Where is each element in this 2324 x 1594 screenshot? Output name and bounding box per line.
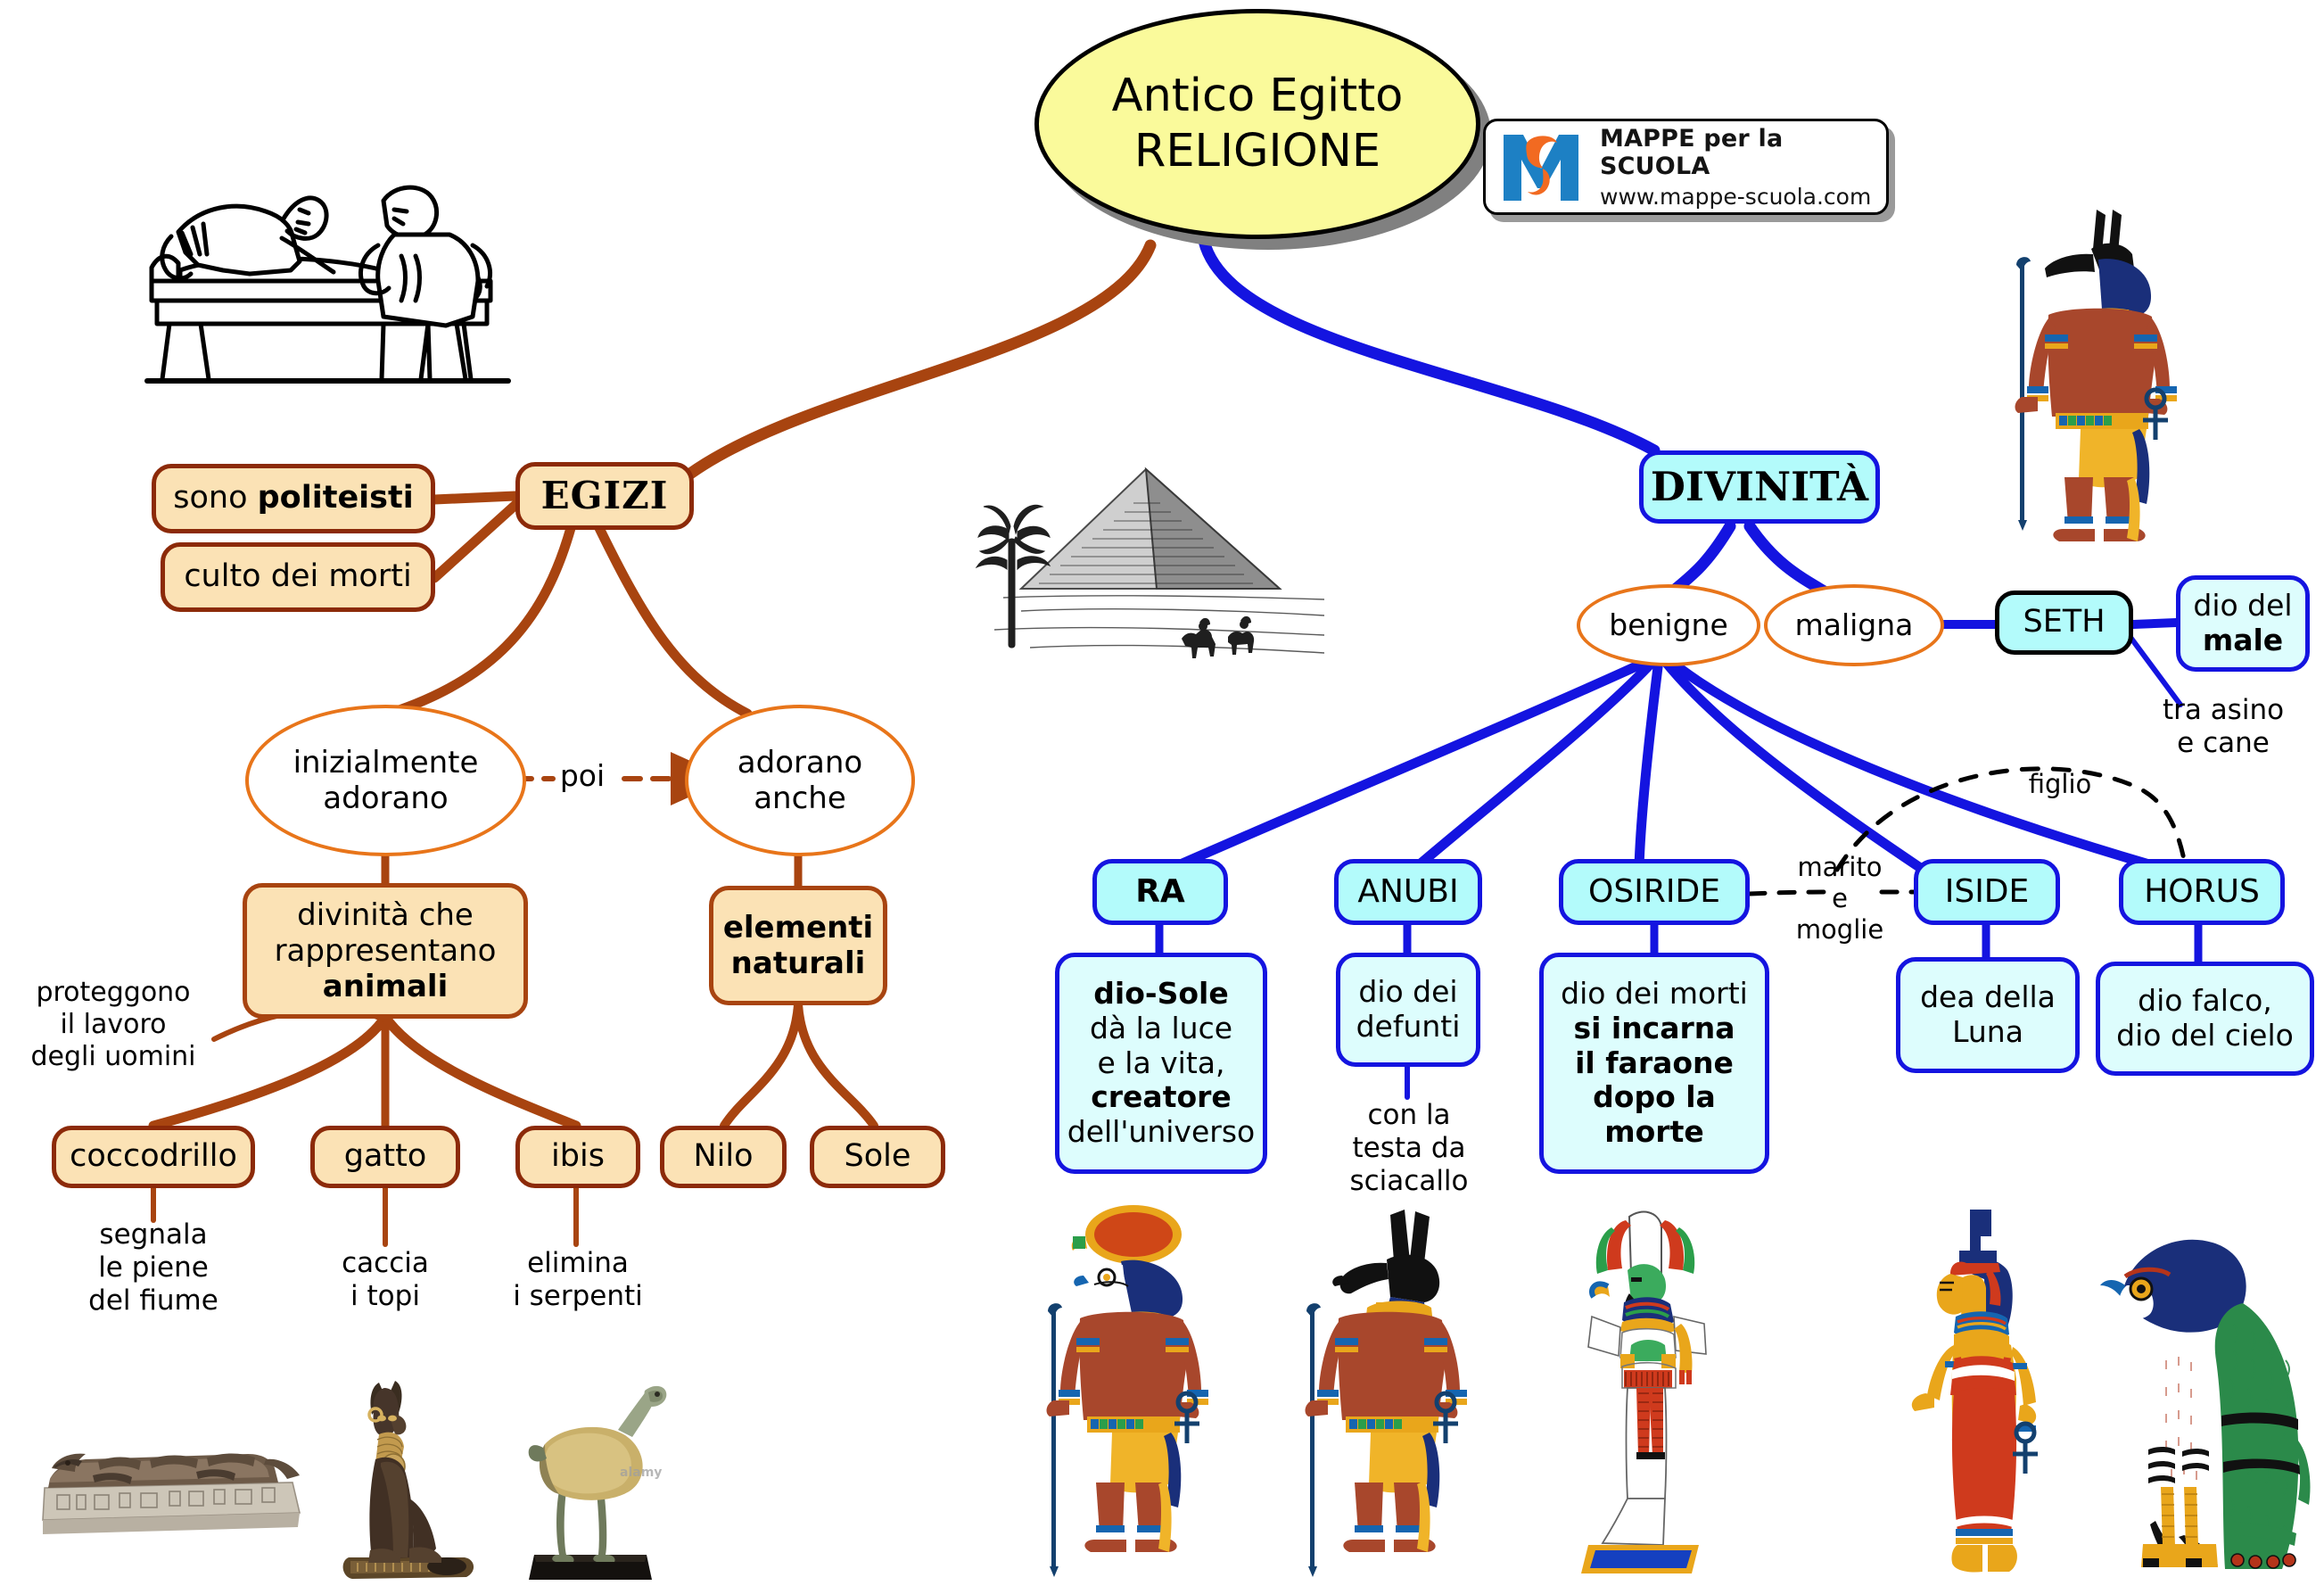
note-proteggono-il-lavoro: proteggono il lavoro degli uomini: [11, 977, 216, 1073]
node-inizialmente-adorano[interactable]: inizialmente adorano: [245, 705, 526, 856]
edge-benigne-ra: [1168, 660, 1650, 870]
node-anubi-descrizione[interactable]: dio dei defunti: [1336, 953, 1480, 1067]
node-ra[interactable]: RA: [1092, 859, 1228, 925]
edge-benigne-horus: [1669, 660, 2158, 867]
note-ibis: elimina i serpenti: [489, 1247, 667, 1313]
node-culto-dei-morti[interactable]: culto dei morti: [161, 542, 435, 612]
logo-site: www.mappe-scuola.com: [1600, 184, 1886, 210]
node-ra-descrizione[interactable]: dio-Sole dà la luce e la vita, creatore …: [1055, 953, 1267, 1174]
site-logo[interactable]: MAPPE per la SCUOLA www.mappe-scuola.com: [1483, 119, 1893, 219]
node-seth-descrizione[interactable]: dio del male: [2176, 575, 2310, 672]
node-gatto[interactable]: gatto: [310, 1126, 460, 1188]
elementi-l2: naturali: [731, 946, 866, 981]
ibis-statue-photo: alamy: [504, 1378, 673, 1594]
node-sole[interactable]: Sole: [810, 1126, 945, 1188]
node-osiride[interactable]: OSIRIDE: [1559, 859, 1750, 925]
politeisti-plain: sono: [173, 480, 257, 516]
node-anubi[interactable]: ANUBI: [1334, 859, 1482, 925]
title-line-2: RELIGIONE: [1134, 124, 1380, 179]
svg-text:alamy: alamy: [620, 1466, 662, 1480]
edge-label-poi: poi: [542, 758, 622, 794]
node-sono-politeisti[interactable]: sono politeisti: [152, 464, 435, 533]
concept-map-canvas: Antico Egitto RELIGIONE MAPPE per la SCU…: [0, 0, 2324, 1594]
mappe-m-icon: [1498, 129, 1584, 204]
seth-figure-illustration: [1993, 210, 2185, 557]
edge-elementi-sole: [798, 1004, 874, 1126]
inizialmente-l2: adorano: [323, 780, 448, 816]
logo-card[interactable]: MAPPE per la SCUOLA www.mappe-scuola.com: [1483, 119, 1889, 215]
mummification-scene-illustration: [116, 111, 535, 397]
note-coccodrillo: segnala le piene del fiume: [46, 1218, 260, 1318]
crocodile-sarcophagus-photo: [36, 1400, 312, 1552]
relation-label-figlio: figlio: [1998, 769, 2122, 800]
edge-egizi-adorano-anche: [599, 528, 747, 714]
edge-elementi-nilo: [724, 1004, 798, 1126]
node-horus-descrizione[interactable]: dio falco, dio del cielo: [2096, 962, 2314, 1076]
node-divinita-animali[interactable]: divinità che rappresentano animali: [243, 883, 528, 1019]
osiris-figure-illustration: [1556, 1204, 1726, 1594]
elementi-l1: elementi: [723, 910, 873, 946]
node-nilo[interactable]: Nilo: [660, 1126, 787, 1188]
node-coccodrillo[interactable]: coccodrillo: [52, 1126, 255, 1188]
logo-brand: MAPPE per la SCUOLA: [1600, 125, 1886, 180]
animali-l1: divinità che: [297, 897, 474, 933]
title-line-1: Antico Egitto: [1112, 69, 1404, 124]
node-elementi-naturali[interactable]: elementi naturali: [709, 886, 887, 1005]
note-anubi-testa-sciacallo: con la testa da sciacallo: [1329, 1099, 1489, 1199]
cat-statue-photo: [317, 1374, 495, 1594]
adorano-anche-l2: anche: [754, 780, 846, 816]
node-ibis[interactable]: ibis: [515, 1126, 640, 1188]
edge-egizi-politeisti: [434, 496, 515, 500]
node-divinita[interactable]: DIVINITÀ: [1639, 450, 1880, 524]
edge-egizi-culto: [434, 505, 515, 578]
edge-seth-dio-del-male: [2133, 623, 2176, 624]
node-adorano-anche[interactable]: adorano anche: [685, 705, 915, 856]
inizialmente-l1: inizialmente: [293, 745, 479, 780]
animali-l3: animali: [323, 969, 448, 1004]
edge-benigne-osiride: [1639, 660, 1659, 867]
ra-figure-illustration: [1039, 1204, 1217, 1594]
node-osiride-descrizione[interactable]: dio dei morti si incarna il faraone dopo…: [1539, 953, 1769, 1174]
node-maligna[interactable]: maligna: [1764, 584, 1944, 666]
edge-benigne-iside: [1664, 660, 1919, 867]
animali-l2: rappresentano: [275, 933, 497, 969]
horus-falcon-figure-illustration: [2091, 1226, 2319, 1594]
title-ellipse: Antico Egitto RELIGIONE: [1034, 9, 1480, 239]
node-egizi[interactable]: EGIZI: [515, 462, 694, 530]
edge-benigne-anubi: [1413, 660, 1654, 870]
node-benigne[interactable]: benigne: [1577, 584, 1760, 666]
node-iside-descrizione[interactable]: dea della Luna: [1896, 957, 2080, 1073]
edge-title-egizi: [680, 245, 1150, 482]
note-gatto: caccia i topi: [296, 1247, 474, 1313]
pyramid-scene-illustration: [968, 464, 1360, 687]
egizi-label: EGIZI: [541, 474, 669, 518]
relation-label-marito-e-moglie: marito e moglie: [1755, 852, 1924, 945]
node-horus[interactable]: HORUS: [2119, 859, 2285, 925]
anubis-figure-illustration: [1298, 1204, 1476, 1594]
edge-title-divinita: [1204, 241, 1654, 450]
edge-animali-ibis: [385, 1017, 576, 1126]
adorano-anche-l1: adorano: [738, 745, 862, 780]
node-seth[interactable]: SETH: [1995, 591, 2133, 655]
politeisti-bold: politeisti: [258, 480, 414, 516]
node-iside[interactable]: ISIDE: [1914, 859, 2060, 925]
isis-figure-illustration: [1904, 1204, 2060, 1594]
note-seth-tra-asino-e-cane: tra asino e cane: [2121, 694, 2324, 760]
map-title: Antico Egitto RELIGIONE: [1034, 9, 1491, 250]
culto-label: culto dei morti: [184, 558, 411, 595]
